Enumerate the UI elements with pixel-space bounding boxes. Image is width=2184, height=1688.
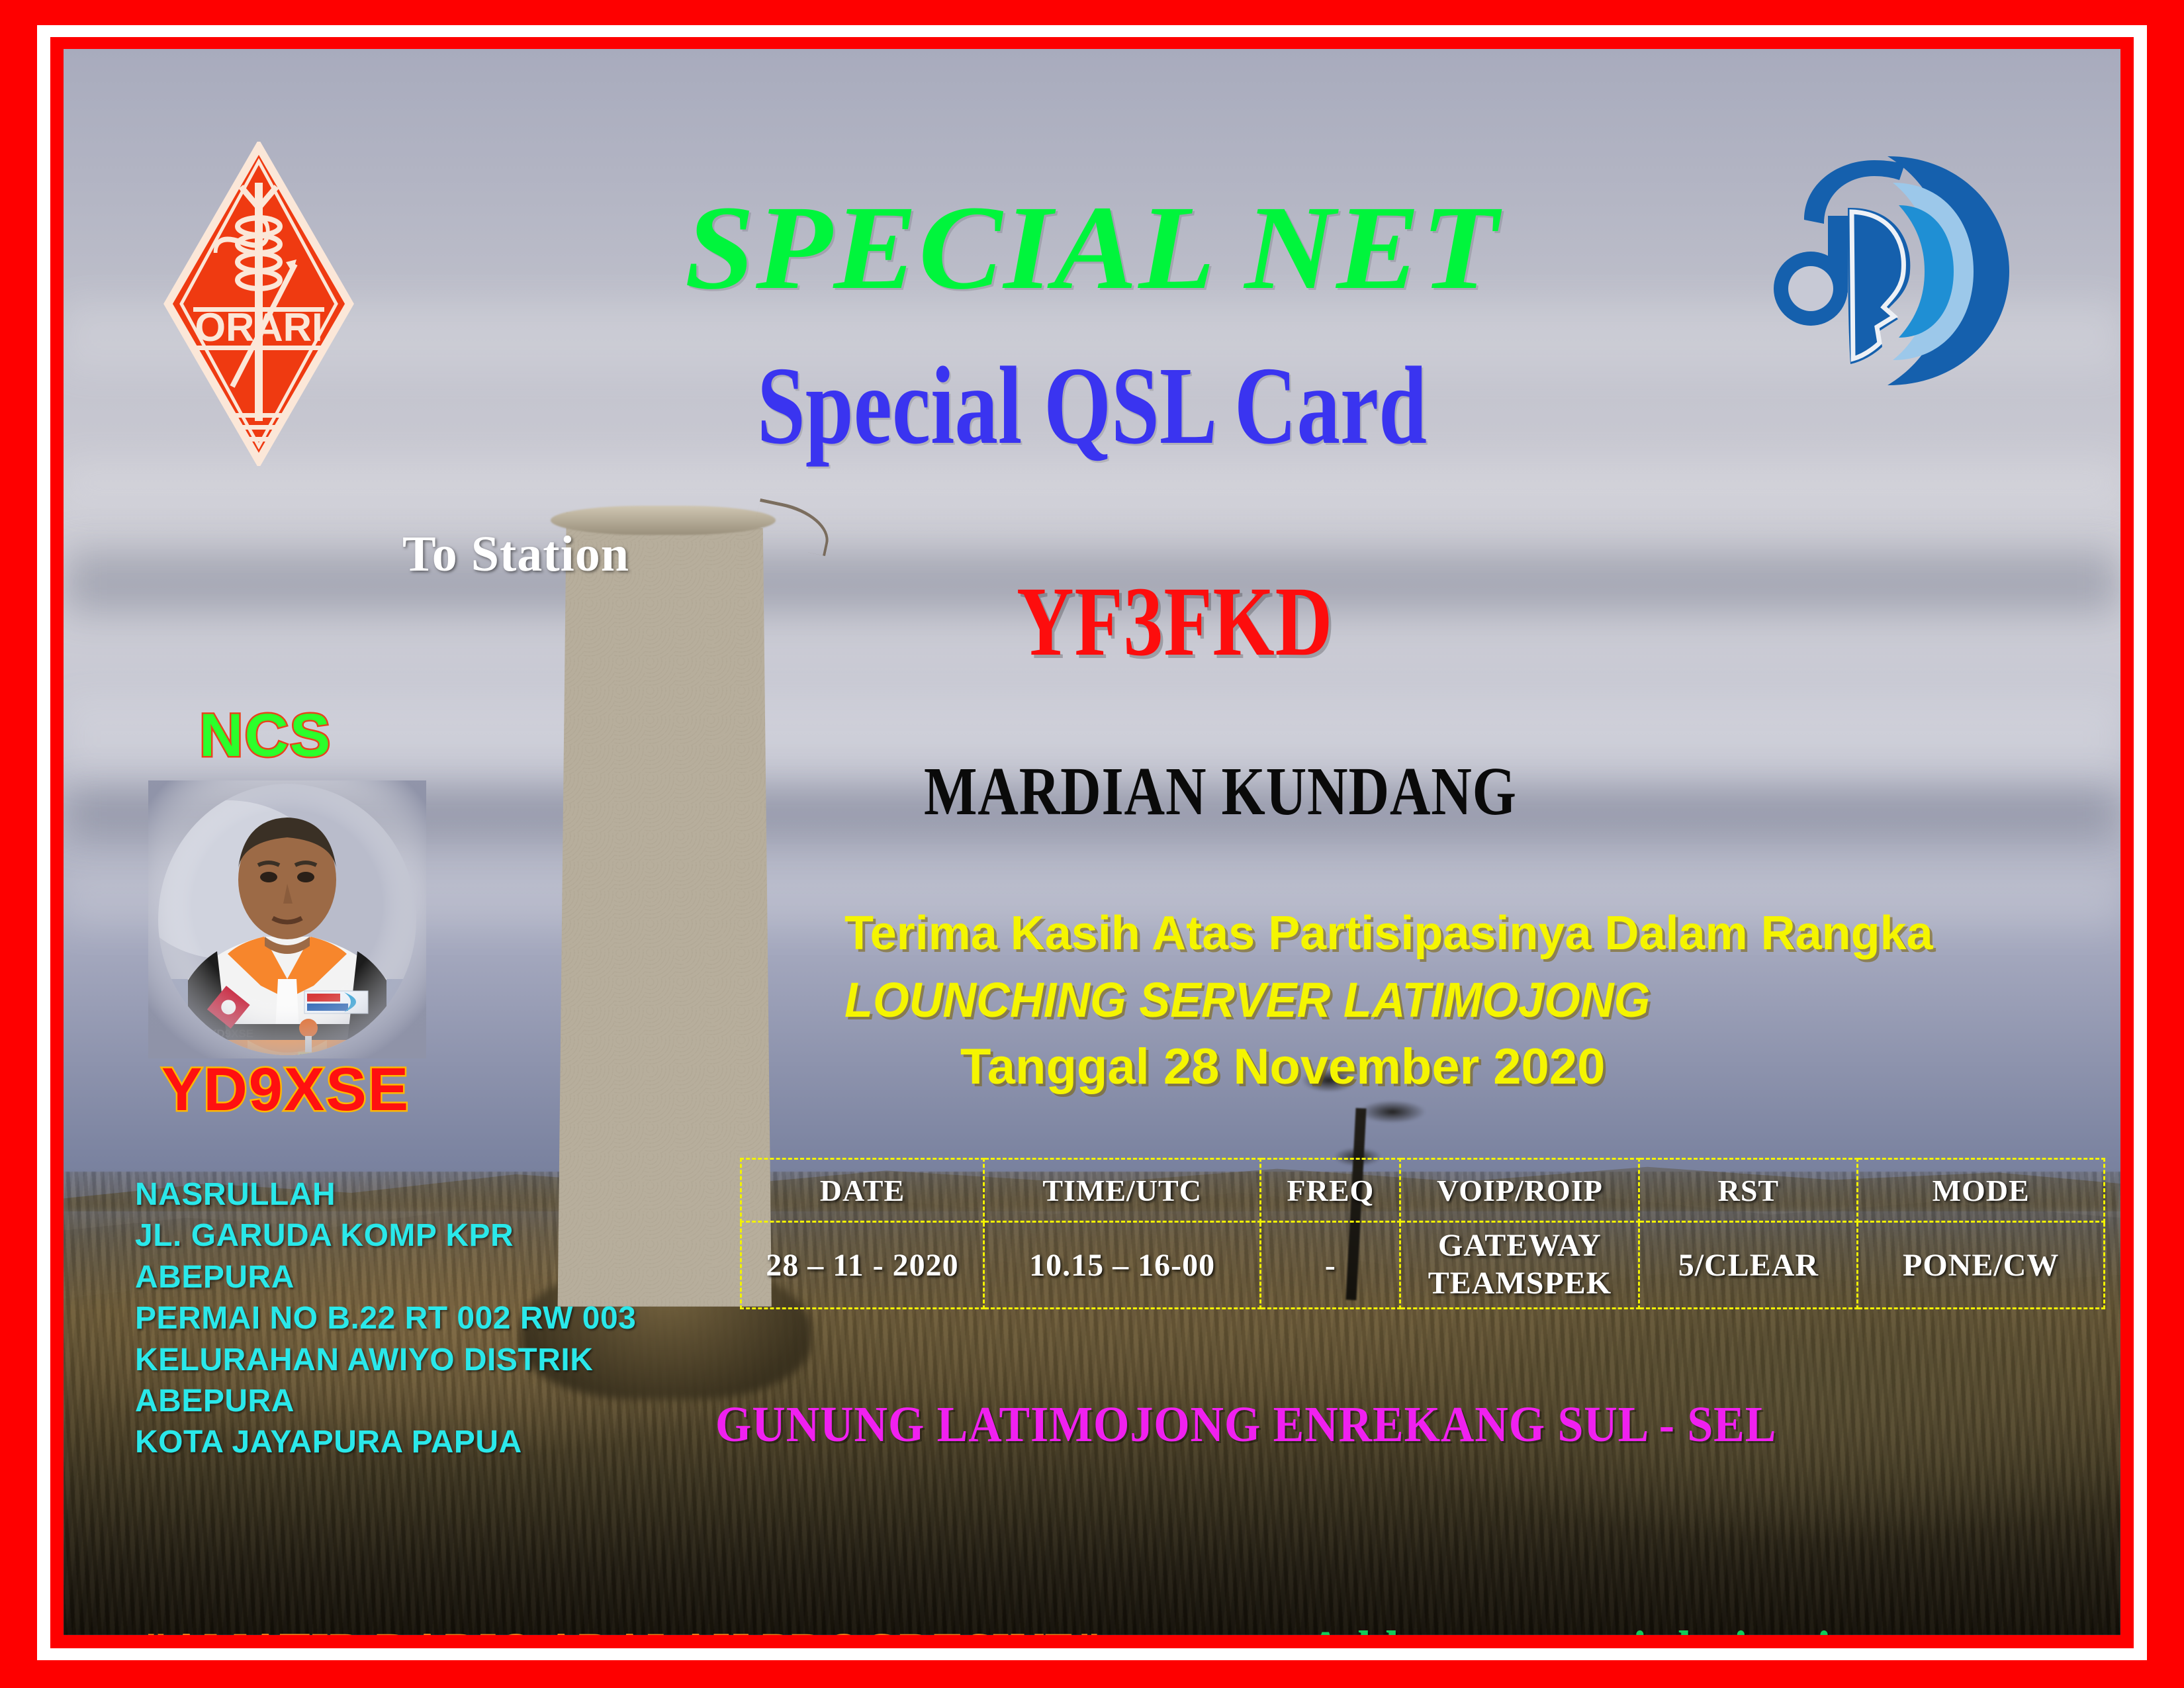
cell-time: 10.15 – 16-00 <box>983 1222 1260 1309</box>
col-header-voip: VOIP/ROIP <box>1400 1159 1639 1222</box>
address-line: KOTA JAYAPURA PAPUA <box>135 1422 684 1463</box>
event-date: Tanggal 28 November 2020 <box>960 1042 1605 1092</box>
cell-voip-line2: TEAMSPEK <box>1401 1265 1638 1303</box>
page-subtitle: Special QSL Card <box>290 350 1894 461</box>
col-header-mode: MODE <box>1858 1159 2105 1222</box>
col-header-freq: FREQ <box>1261 1159 1400 1222</box>
qsl-card: ORARI SPECIAL NE <box>0 0 2184 1688</box>
footer-web-address: Address : amatir.latimojong.com <box>1308 1623 2011 1635</box>
ncs-label: NCS <box>199 701 332 771</box>
page-title: SPECIAL NET <box>64 188 2120 308</box>
station-callsign: YF3FKD <box>1017 572 1333 671</box>
table-header-row: DATE TIME/UTC FREQ VOIP/ROIP RST MODE <box>741 1159 2105 1222</box>
cell-rst: 5/CLEAR <box>1639 1222 1858 1309</box>
to-station-label: To Station <box>402 526 629 583</box>
col-header-time: TIME/UTC <box>983 1159 1260 1222</box>
ncs-callsign: YD9XSE <box>161 1055 410 1125</box>
station-operator-name: MARDIAN KUNDANG <box>924 757 1517 826</box>
col-header-date: DATE <box>741 1159 984 1222</box>
card-photo-plate: ORARI SPECIAL NE <box>64 49 2120 1635</box>
address-line: ABEPURA <box>135 1381 684 1422</box>
orari-logo-text: ORARI <box>195 305 322 350</box>
event-name: LOUNCHING SERVER LATIMOJONG <box>844 976 2077 1025</box>
location-caption: GUNUNG LATIMOJONG ENREKANG SUL - SEL <box>715 1399 1776 1450</box>
cell-voip-line1: GATEWAY <box>1401 1227 1638 1265</box>
event-thanks-line: Terima Kasih Atas Partisipasinya Dalam R… <box>844 910 2120 957</box>
footer-slogan: "AMATIR RADIO ADALAH PROGRESIVE" <box>143 1624 1103 1635</box>
address-line: NASRULLAH <box>135 1174 684 1215</box>
ncs-operator-photo: YD9XSE <box>148 780 426 1058</box>
table-row: 28 – 11 - 2020 10.15 – 16-00 - GATEWAY T… <box>741 1222 2105 1309</box>
col-header-rst: RST <box>1639 1159 1858 1222</box>
address-line: KELURAHAN AWIYO DISTRIK <box>135 1340 684 1381</box>
address-line: JL. GARUDA KOMP KPR <box>135 1215 684 1256</box>
address-line: PERMAI NO B.22 RT 002 RW 003 <box>135 1298 684 1339</box>
address-line: ABEPURA <box>135 1257 684 1298</box>
cell-voip: GATEWAY TEAMSPEK <box>1400 1222 1639 1309</box>
cell-mode: PONE/CW <box>1858 1222 2105 1309</box>
cell-freq: - <box>1261 1222 1400 1309</box>
cell-date: 28 – 11 - 2020 <box>741 1222 984 1309</box>
qso-table: DATE TIME/UTC FREQ VOIP/ROIP RST MODE 28… <box>740 1158 2105 1309</box>
ncs-address: NASRULLAH JL. GARUDA KOMP KPR ABEPURA PE… <box>135 1174 684 1464</box>
